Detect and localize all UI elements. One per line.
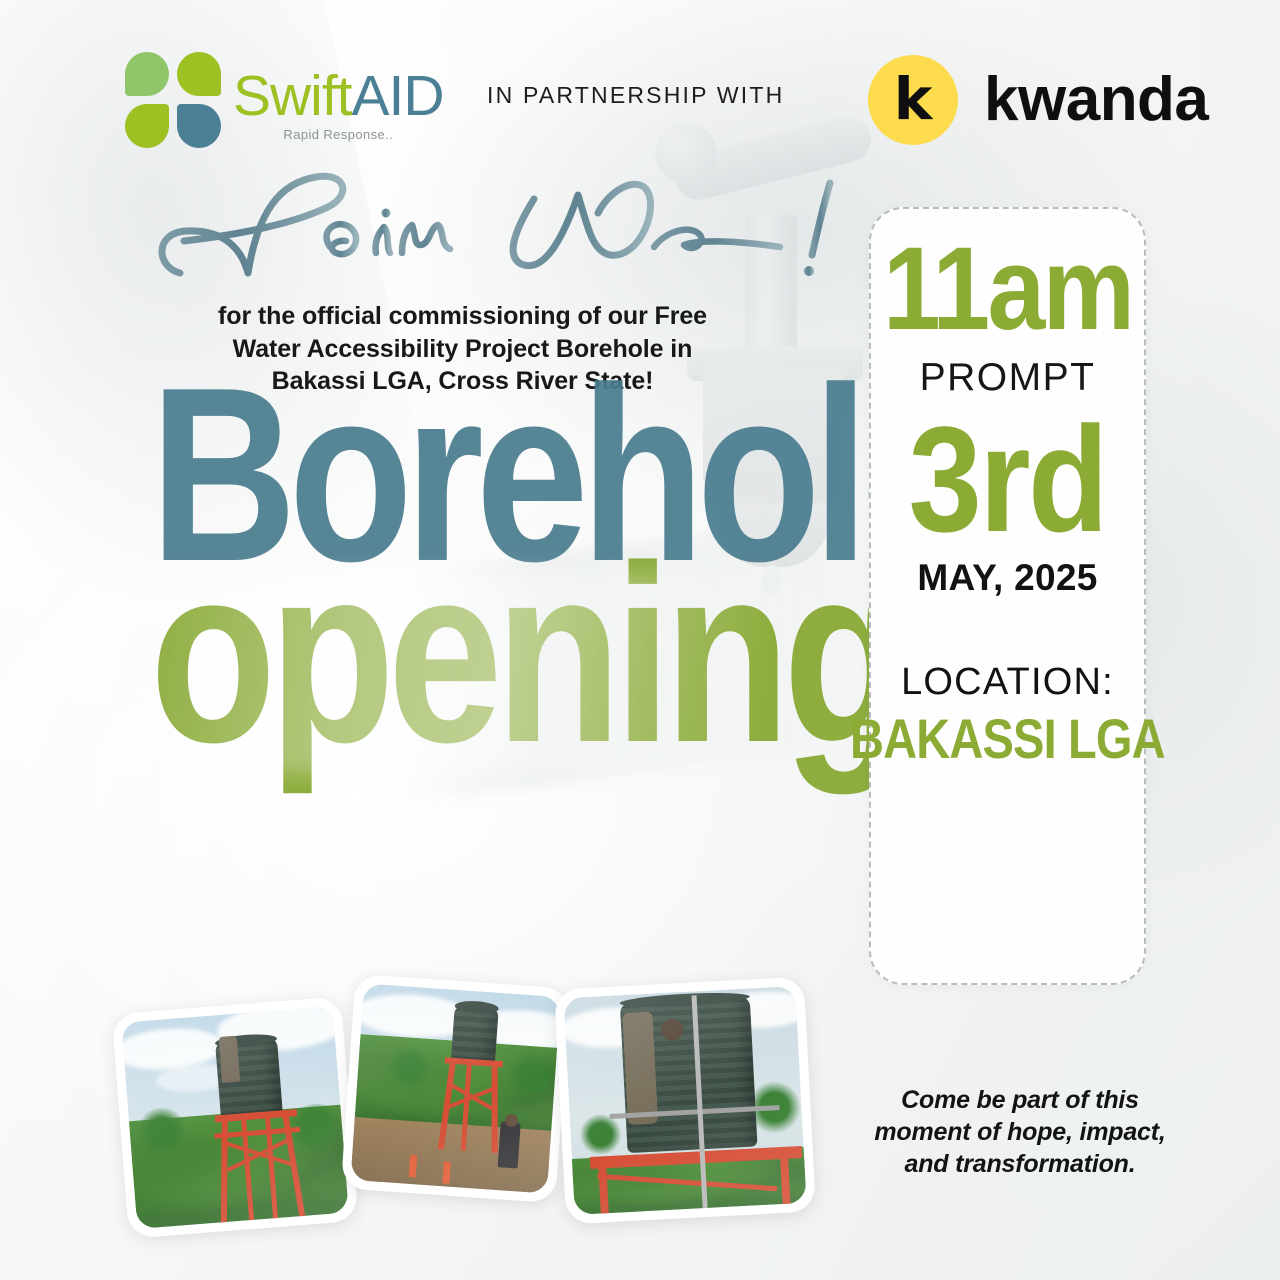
flyer-canvas: SwiftAID Rapid Response.. IN PARTNERSHIP…: [0, 0, 1280, 1280]
four-leaf-tiles-icon: [125, 52, 221, 148]
swiftaid-logo: SwiftAID Rapid Response..: [125, 52, 444, 148]
swiftaid-wordmark: SwiftAID: [233, 68, 444, 125]
event-location-label: LOCATION:: [901, 661, 1114, 704]
headline-block: Borehole opening: [150, 378, 790, 754]
swiftaid-tagline: Rapid Response..: [233, 127, 444, 142]
join-us-script-text: [140, 155, 860, 290]
event-time: 11am: [883, 241, 1132, 338]
gallery-photo: [341, 974, 570, 1203]
flyer-header: SwiftAID Rapid Response.. IN PARTNERSHIP…: [0, 0, 1280, 170]
kwanda-wordmark: kwanda: [984, 69, 1208, 131]
gallery-photo: [554, 977, 816, 1225]
event-day: 3rd: [909, 418, 1107, 541]
event-location-value: BAKASSI LGA: [850, 706, 1165, 771]
kwanda-logo: k kwanda: [868, 55, 1208, 145]
event-details-card: 11am PROMPT 3rd MAY, 2025 LOCATION: BAKA…: [869, 207, 1146, 985]
swiftaid-wordmark-aid: AID: [352, 64, 444, 128]
project-photo-gallery: [100, 975, 840, 1245]
headline-line-opening: opening: [150, 557, 675, 754]
kwanda-mark-icon: k: [868, 55, 958, 145]
partnership-label: IN PARTNERSHIP WITH: [487, 82, 784, 109]
event-time-note: PROMPT: [920, 356, 1096, 400]
closing-tagline: Come be part of this moment of hope, imp…: [855, 1085, 1185, 1180]
event-month-year: MAY, 2025: [917, 557, 1097, 599]
kwanda-mark-letter: k: [894, 70, 933, 128]
swiftaid-wordmark-swift: Swift: [233, 64, 352, 128]
gallery-photo: [112, 996, 359, 1238]
